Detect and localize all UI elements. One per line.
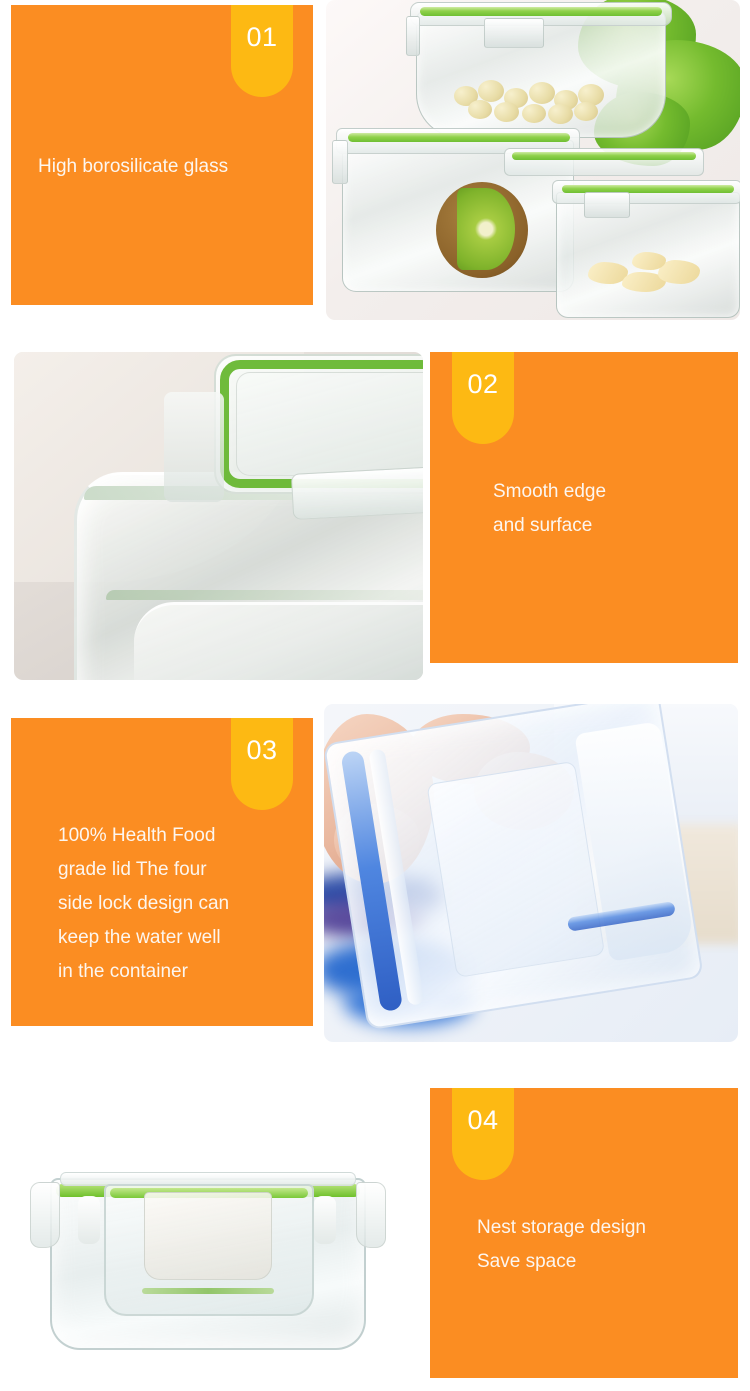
feature-number-badge-03: 03: [231, 718, 293, 810]
feature-number-badge-04: 04: [452, 1088, 514, 1180]
feature-panel-01: 01 High borosilicate glass: [11, 5, 313, 305]
feature-number-03: 03: [246, 735, 277, 766]
product-photo-hand-holding-container: [324, 704, 738, 1042]
feature-number-02: 02: [467, 369, 498, 400]
product-photo-stacked-containers: [326, 0, 740, 320]
feature-text-03: 100% Health Food grade lid The four side…: [58, 819, 320, 989]
product-photo-nested-containers: [14, 1088, 423, 1378]
feature-number-01: 01: [246, 22, 277, 53]
feature-panel-04: 04 Nest storage design Save space: [430, 1088, 738, 1378]
feature-number-badge-02: 02: [452, 352, 514, 444]
infographic-page: 01 High borosilicate glass: [0, 0, 750, 1391]
feature-number-badge-01: 01: [231, 5, 293, 97]
feature-text-02: Smooth edge and surface: [493, 475, 723, 543]
feature-number-04: 04: [467, 1105, 498, 1136]
feature-panel-02: 02 Smooth edge and surface: [430, 352, 738, 663]
feature-panel-03: 03 100% Health Food grade lid The four s…: [11, 718, 313, 1026]
feature-text-04: Nest storage design Save space: [477, 1211, 727, 1279]
product-photo-edge-closeup: [14, 352, 423, 680]
feature-text-01: High borosilicate glass: [38, 150, 298, 184]
